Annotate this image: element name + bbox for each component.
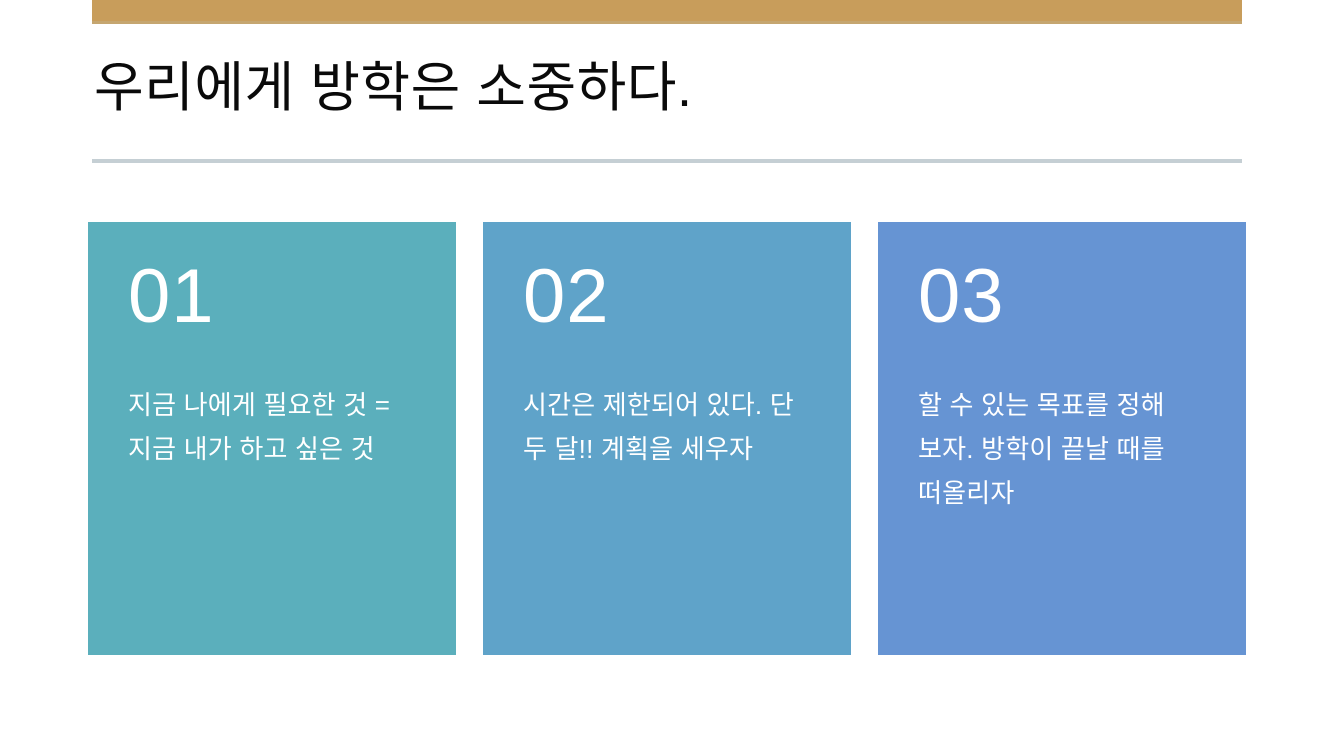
card-body-03: 할 수 있는 목표를 정해 보자. 방학이 끝날 때를 떠올리자	[918, 383, 1220, 515]
card-number-03: 03	[918, 254, 1220, 340]
title-divider	[92, 159, 1242, 163]
card-list: 01 지금 나에게 필요한 것 = 지금 내가 하고 싶은 것 02 시간은 제…	[88, 222, 1246, 655]
card-03[interactable]: 03 할 수 있는 목표를 정해 보자. 방학이 끝날 때를 떠올리자	[878, 222, 1246, 655]
card-body-01: 지금 나에게 필요한 것 = 지금 내가 하고 싶은 것	[128, 383, 430, 471]
card-number-01: 01	[128, 254, 430, 340]
card-body-02: 시간은 제한되어 있다. 단 두 달!! 계획을 세우자	[523, 383, 825, 471]
card-02[interactable]: 02 시간은 제한되어 있다. 단 두 달!! 계획을 세우자	[483, 222, 851, 655]
presentation-slide: 우리에게 방학은 소중하다. 01 지금 나에게 필요한 것 = 지금 내가 하…	[0, 0, 1334, 750]
page-title: 우리에게 방학은 소중하다.	[94, 52, 1244, 124]
top-accent-bar	[92, 0, 1242, 21]
top-accent-bar-shadow	[92, 21, 1242, 24]
card-01[interactable]: 01 지금 나에게 필요한 것 = 지금 내가 하고 싶은 것	[88, 222, 456, 655]
card-number-02: 02	[523, 254, 825, 340]
